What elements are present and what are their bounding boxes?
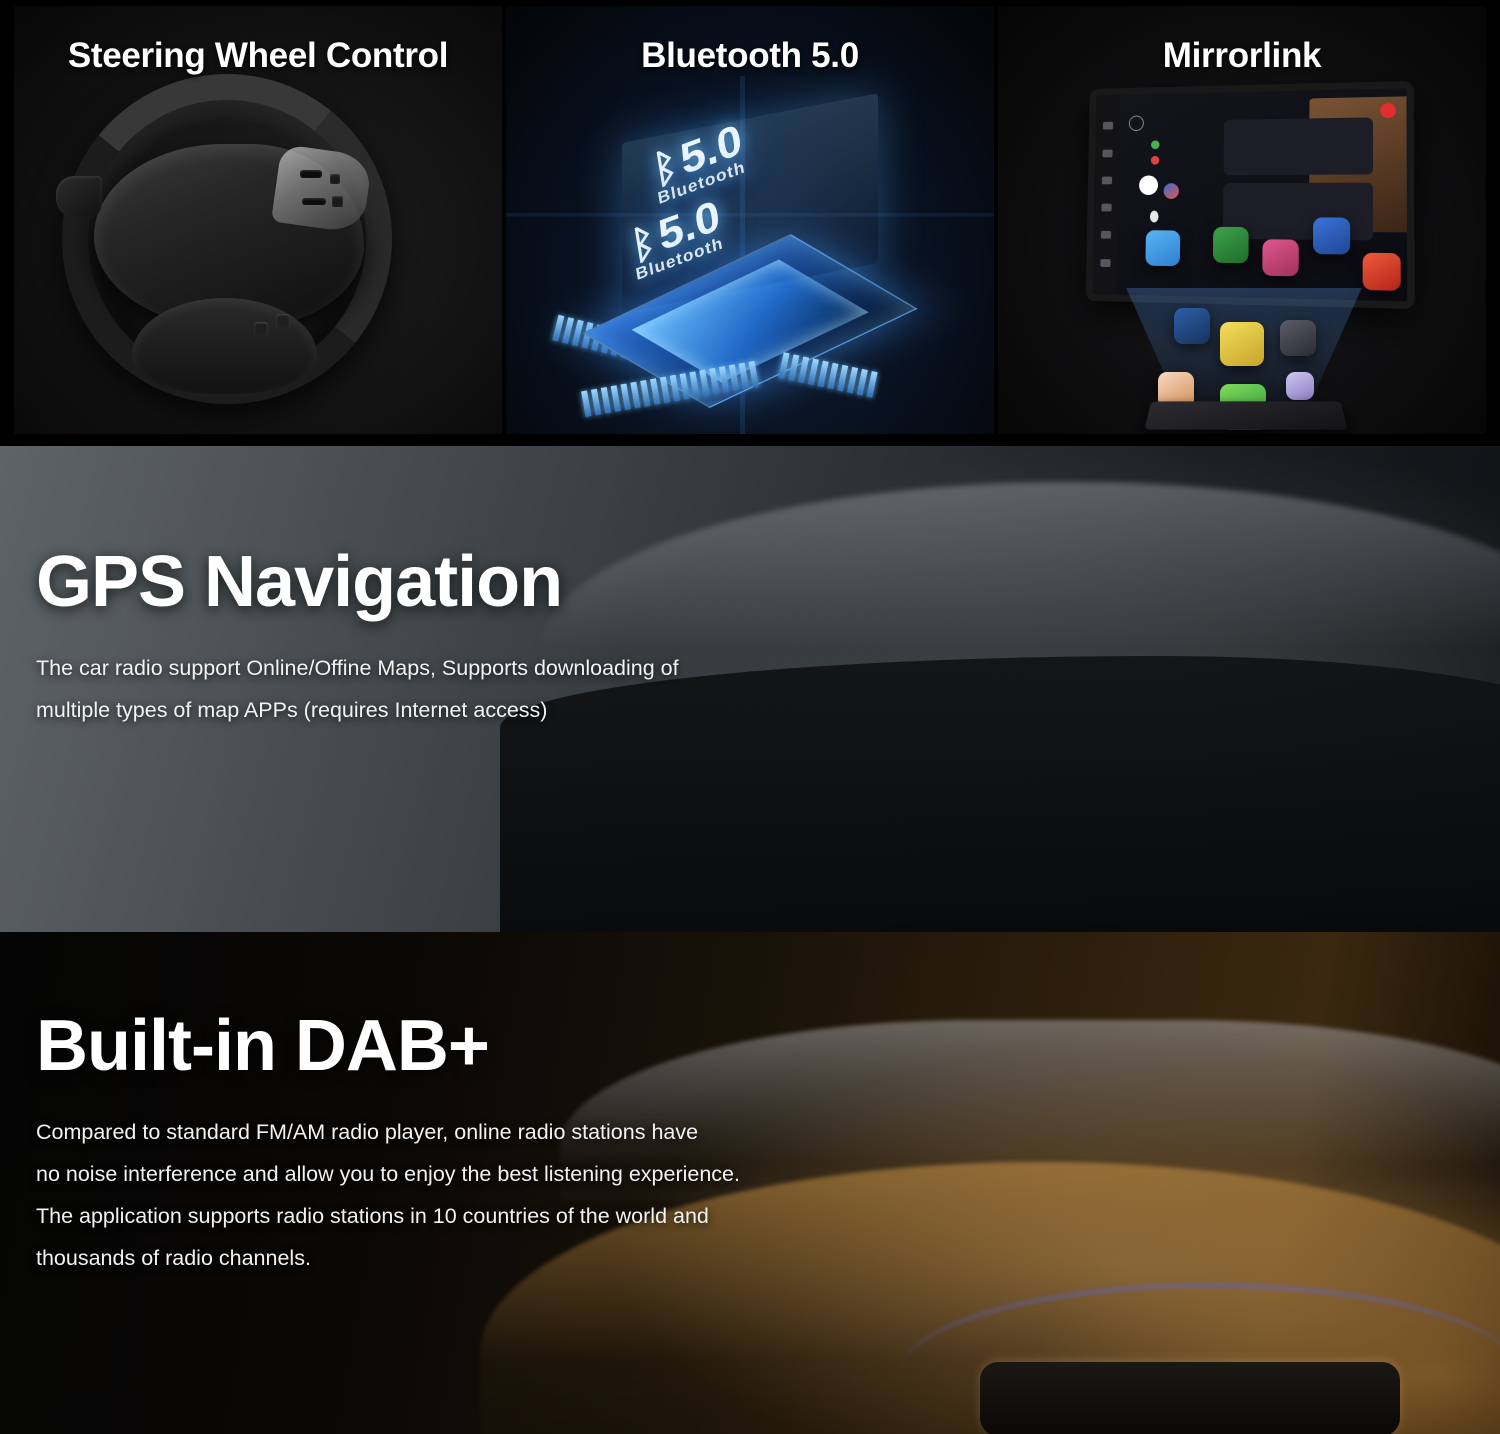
gps-body: The car radio support Online/Offine Maps… [36,648,796,732]
gps-heading: GPS Navigation [36,546,796,618]
panel-steering-wheel-control: Steering Wheel Control [14,6,502,434]
app-icon-camera [1213,227,1249,264]
gps-navigation-section: GPS Navigation The car radio support Onl… [0,446,1500,932]
gps-body-line-1: The car radio support Online/Offine Maps… [36,648,796,690]
panel-bluetooth: Bluetooth 5.0 ᛒ5.0 Bl [506,6,994,434]
panel-mirrorlink: Mirrorlink [998,6,1486,434]
app-icon-settings [1286,372,1314,400]
mirrorlink-screen [1117,88,1408,301]
mirrorlink-head-unit [1086,81,1415,309]
swc-button-phone [332,196,343,207]
panel-title-bluetooth: Bluetooth 5.0 [506,36,994,76]
app-icon-phone [1174,308,1210,344]
panel-title-steering-wheel: Steering Wheel Control [14,36,502,76]
app-icon-browser [1363,253,1401,291]
panel-title-mirrorlink: Mirrorlink [998,36,1486,76]
mirrorlink-list-dot-2 [1151,156,1160,165]
gps-text-block: GPS Navigation The car radio support Onl… [36,546,796,732]
bluetooth-chip-photo: ᛒ5.0 Bluetooth ᛒ5.0 Bluetooth [506,76,994,434]
gps-body-line-2: multiple types of map APPs (requires Int… [36,690,796,732]
swc-button-cruise [276,314,290,328]
steering-wheel-photo [14,66,502,434]
app-icon-navigation [1145,230,1180,266]
swc-button-volume-down [302,198,326,205]
app-icon-maps [1220,322,1264,366]
mirrorlink-list-dot-4 [1150,211,1159,223]
app-icon-kodi [1280,320,1316,356]
dab-body-line-1: Compared to standard FM/AM radio player,… [36,1112,856,1154]
mirrorlink-phone [1144,401,1347,429]
dab-body-line-4: thousands of radio channels. [36,1238,856,1280]
feature-panels-row: Steering Wheel Control Bluetooth 5.0 [0,0,1500,440]
mirrorlink-list-dot-1 [1151,140,1160,149]
mirrorlink-headunit-photo [998,72,1486,434]
mirrorlink-assistant-icon [1139,175,1158,195]
dab-heading: Built-in DAB+ [36,1010,856,1082]
dab-body: Compared to standard FM/AM radio player,… [36,1112,856,1280]
dab-body-line-2: no noise interference and allow you to e… [36,1154,856,1196]
app-icon-news [1313,217,1350,254]
mirrorlink-bezel [1092,95,1120,295]
swc-button-mode [330,174,340,184]
dab-body-line-3: The application supports radio stations … [36,1196,856,1238]
swc-button-voice [254,322,268,336]
app-icon-music [1262,239,1299,276]
mirrorlink-now-playing-card [1224,117,1373,175]
center-console [980,1362,1400,1434]
dab-section: Built-in DAB+ Compared to standard FM/AM… [0,932,1500,1434]
dab-text-block: Built-in DAB+ Compared to standard FM/AM… [36,1010,856,1280]
mirrorlink-app-dot-3 [1163,183,1178,199]
mirrorlink-clock-icon [1129,115,1144,131]
swc-left-pad [56,176,102,218]
swc-button-volume-up [300,170,322,178]
